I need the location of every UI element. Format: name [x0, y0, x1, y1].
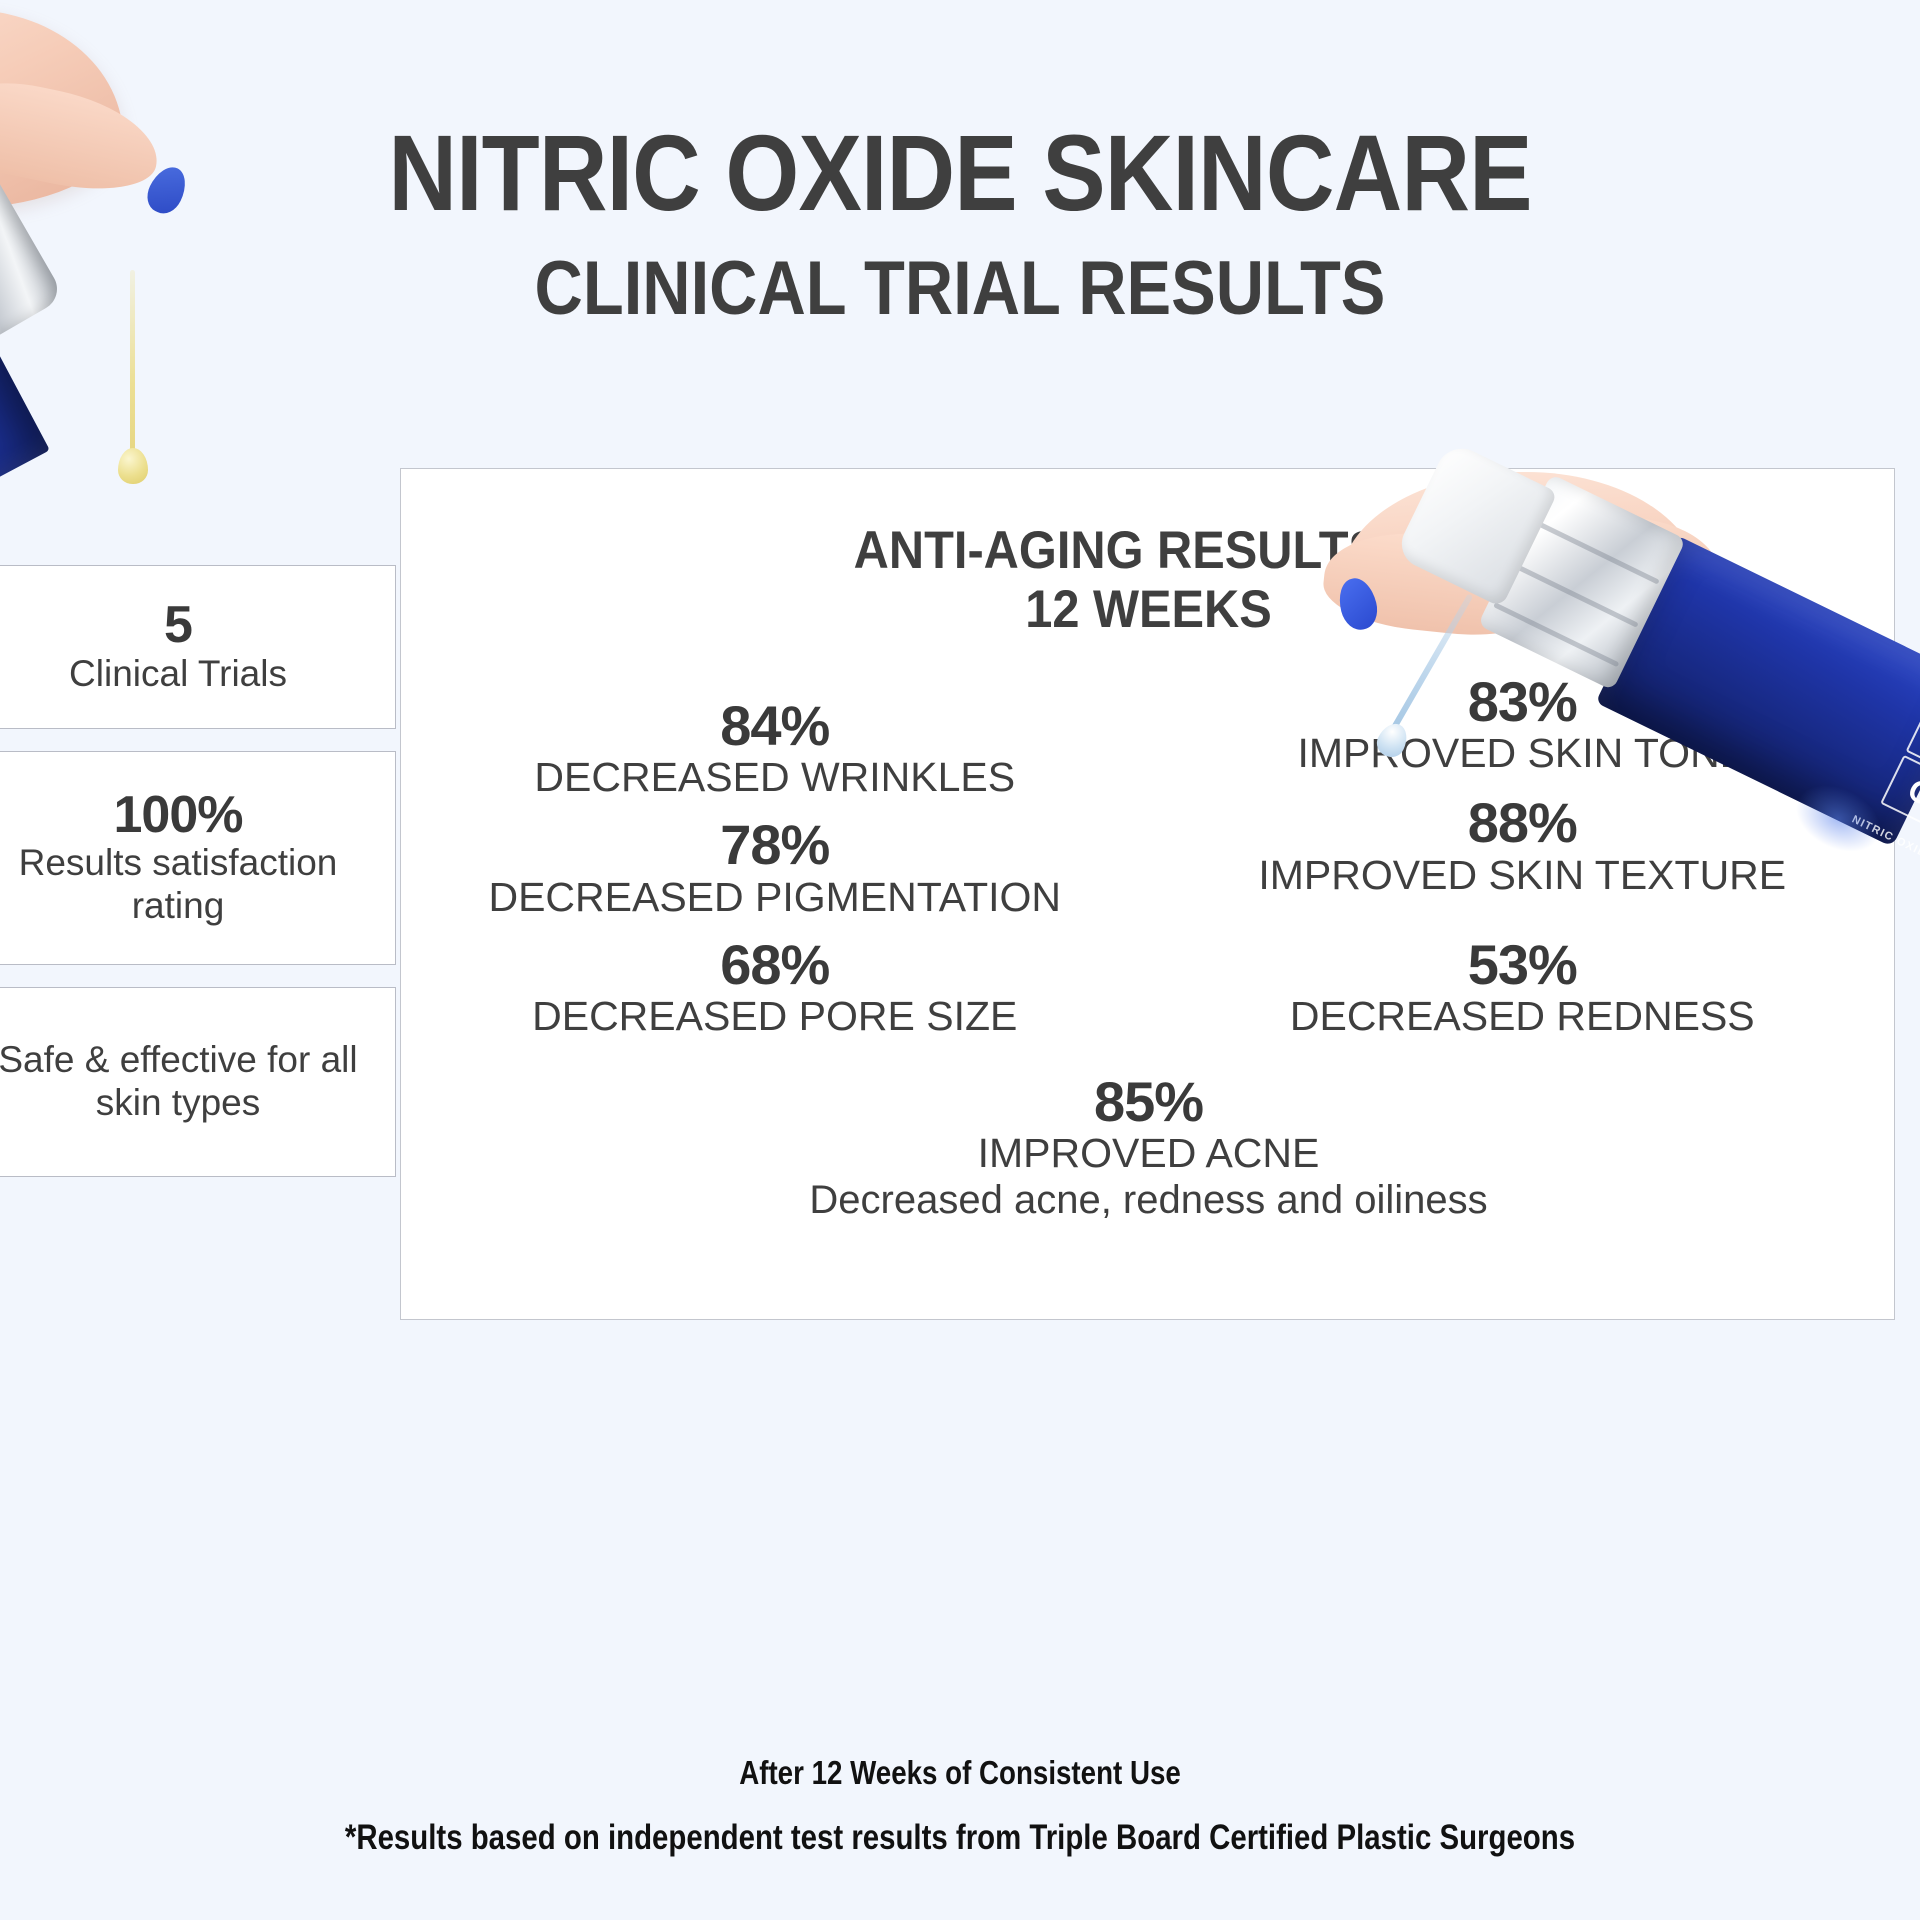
result-pct-improved-acne: 85%	[401, 1073, 1896, 1131]
result-desc-decreased-redness: DECREASED REDNESS	[1159, 994, 1887, 1039]
stat-card-list: 5 Clinical Trials 100% Results satisfact…	[0, 565, 396, 1177]
serum-droplet-left	[118, 448, 148, 484]
stat-card-satisfaction: 100% Results satisfaction rating	[0, 751, 396, 965]
result-item-improved-acne: 85% IMPROVED ACNE Decreased acne, rednes…	[401, 1073, 1896, 1223]
stat-label-clinical-trials: Clinical Trials	[69, 653, 287, 696]
result-item-decreased-pore-size: 68% DECREASED PORE SIZE	[401, 936, 1149, 1039]
result-desc-decreased-wrinkles: DECREASED WRINKLES	[411, 755, 1139, 800]
product-photo-right: N1 O1 NITRIC OXIDE ACTIVATING SERUM	[1300, 470, 1920, 860]
page-subtitle: CLINICAL TRIAL RESULTS	[115, 250, 1805, 328]
stat-label-satisfaction: Results satisfaction rating	[0, 842, 369, 928]
result-item-decreased-wrinkles: 84% DECREASED WRINKLES	[401, 697, 1149, 800]
serum-drip-stream-right	[1388, 593, 1473, 735]
result-pct-decreased-wrinkles: 84%	[411, 697, 1139, 755]
header-block: NITRIC OXIDE SKINCARE CLINICAL TRIAL RES…	[0, 118, 1920, 328]
results-row: 68% DECREASED PORE SIZE 53% DECREASED RE…	[401, 936, 1896, 1039]
infographic-canvas: N1 O1 NITRIC OXIDE ACTIVATING SERUM with…	[0, 0, 1920, 1920]
result-item-decreased-redness: 53% DECREASED REDNESS	[1149, 936, 1897, 1039]
stat-card-safety: Safe & effective for all skin types	[0, 987, 396, 1177]
result-desc-decreased-pore-size: DECREASED PORE SIZE	[411, 994, 1139, 1039]
result-desc-decreased-pigmentation: DECREASED PIGMENTATION	[411, 875, 1139, 920]
stat-value-satisfaction: 100%	[114, 788, 243, 843]
serum-droplet-right	[1372, 719, 1412, 762]
result-subdesc-improved-acne: Decreased acne, redness and oiliness	[401, 1178, 1896, 1223]
result-desc-improved-acne: IMPROVED ACNE	[401, 1131, 1896, 1176]
logo-o-text: O	[1902, 772, 1920, 815]
result-pct-decreased-pore-size: 68%	[411, 936, 1139, 994]
stat-value-clinical-trials: 5	[164, 598, 192, 653]
footer-block: After 12 Weeks of Consistent Use *Result…	[0, 1749, 1920, 1864]
result-pct-decreased-pigmentation: 78%	[411, 816, 1139, 874]
footer-line-1: After 12 Weeks of Consistent Use	[154, 1749, 1767, 1797]
result-item-decreased-pigmentation: 78% DECREASED PIGMENTATION	[401, 816, 1149, 919]
footer-line-2: *Results based on independent test resul…	[154, 1813, 1767, 1864]
page-title: NITRIC OXIDE SKINCARE	[115, 118, 1805, 228]
stat-label-safety: Safe & effective for all skin types	[0, 1039, 369, 1125]
stat-card-clinical-trials: 5 Clinical Trials	[0, 565, 396, 729]
